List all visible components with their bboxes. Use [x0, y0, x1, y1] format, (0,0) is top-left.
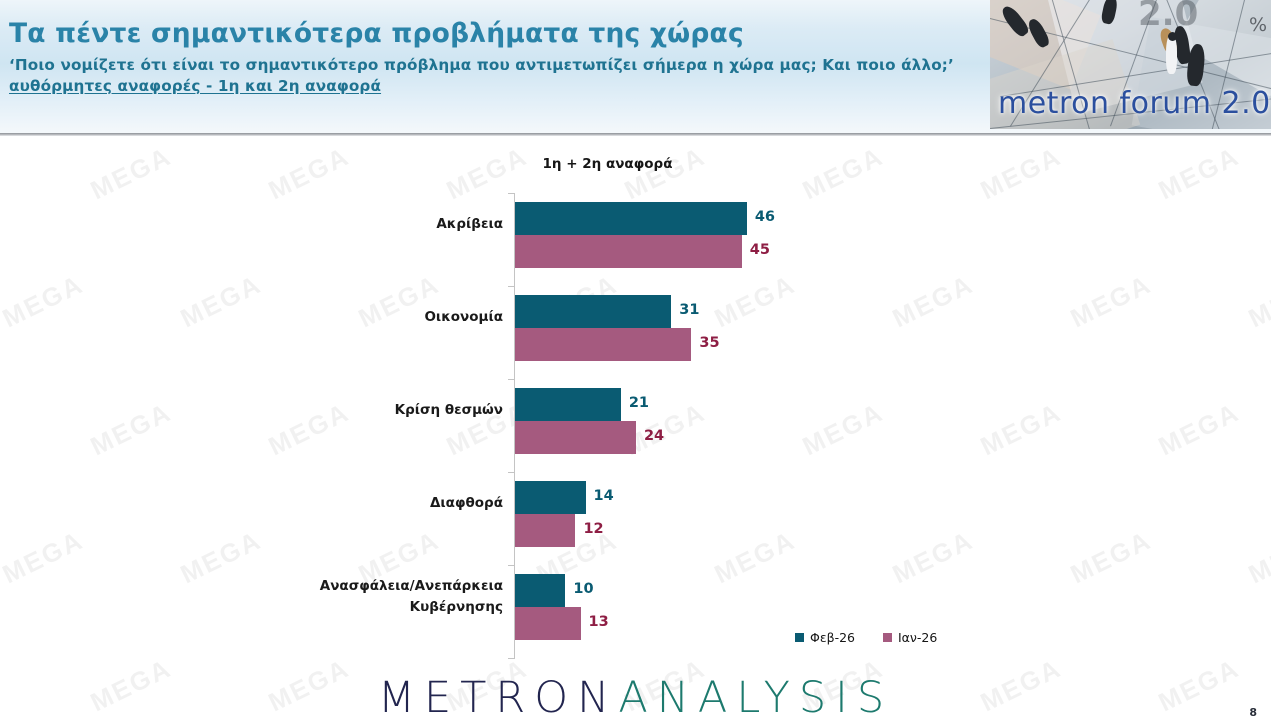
banner-wordmark: metron forum 2.0	[998, 86, 1271, 121]
header-question-text: ‘Ποιο νομίζετε ότι είναι το σημαντικότερ…	[9, 56, 999, 74]
bar-value-label: 21	[629, 395, 649, 411]
banner-percent-symbol: %	[1249, 14, 1267, 36]
legend-swatch	[883, 633, 892, 642]
bar-value-label: 45	[750, 242, 770, 258]
bar-group: 4645	[515, 202, 1215, 268]
bar-value-label: 12	[583, 521, 603, 537]
header-divider	[0, 133, 1271, 136]
page-title: Τα πέντε σημαντικότερα προβλήματα της χώ…	[9, 18, 999, 49]
bar	[515, 202, 747, 235]
axis-tick	[508, 658, 515, 659]
category-label: Οικονομία	[243, 307, 503, 328]
bar	[515, 328, 691, 361]
header-method-note: αυθόρμητες αναφορές - 1η και 2η αναφορά	[9, 77, 999, 95]
banner-number: 2.0	[1138, 0, 1198, 34]
chart-title: 1η + 2η αναφορά	[515, 156, 700, 172]
metron-analysis-logo: METRONANALYSIS	[0, 672, 1271, 721]
bar	[515, 607, 581, 640]
legend-item: Φεβ-26	[795, 630, 855, 645]
legend-label: Φεβ-26	[810, 630, 855, 645]
page-number: 8	[1249, 706, 1257, 719]
category-label: Ακρίβεια	[243, 214, 503, 235]
bar	[515, 421, 636, 454]
bar	[515, 295, 671, 328]
legend-label: Ιαν-26	[898, 630, 937, 645]
category-label: Κρίση θεσμών	[243, 400, 503, 421]
bar-group: 1412	[515, 481, 1215, 547]
bar	[515, 388, 621, 421]
bar-group: 3135	[515, 295, 1215, 361]
legend-item: Ιαν-26	[883, 630, 937, 645]
axis-tick	[508, 379, 515, 380]
bar	[515, 235, 742, 268]
bar-value-label: 31	[679, 302, 699, 318]
category-label: Διαφθορά	[243, 493, 503, 514]
chart-legend: Φεβ-26Ιαν-26	[795, 630, 937, 645]
logo-metron-word: METRON	[378, 673, 618, 721]
bar-value-label: 14	[594, 488, 614, 504]
header-text-block: Τα πέντε σημαντικότερα προβλήματα της χώ…	[9, 18, 999, 95]
axis-tick	[508, 193, 515, 194]
metron-forum-banner: 2.0 % metron forum 2.0	[990, 0, 1271, 129]
bar-value-label: 35	[699, 335, 719, 351]
bar-value-label: 13	[589, 614, 609, 630]
axis-tick	[508, 286, 515, 287]
bar-value-label: 10	[573, 581, 593, 597]
axis-tick	[508, 565, 515, 566]
chart-plot-area: Ακρίβεια4645Οικονομία3135Κρίση θεσμών212…	[515, 193, 1215, 659]
bar-group: 2124	[515, 388, 1215, 454]
bar-value-label: 24	[644, 428, 664, 444]
bar	[515, 514, 575, 547]
category-label: Ανασφάλεια/Ανεπάρκεια Κυβέρνησης	[243, 576, 503, 618]
slide-header: Τα πέντε σημαντικότερα προβλήματα της χώ…	[0, 0, 1271, 136]
bar	[515, 481, 586, 514]
bar-chart: 1η + 2η αναφορά Ακρίβεια4645Οικονομία313…	[0, 136, 1271, 666]
logo-analysis-word: ANALYSIS	[618, 673, 893, 721]
bar-value-label: 46	[755, 209, 775, 225]
logo-text: METRONANALYSIS	[0, 672, 1271, 721]
legend-swatch	[795, 633, 804, 642]
axis-tick	[508, 472, 515, 473]
bar	[515, 574, 565, 607]
